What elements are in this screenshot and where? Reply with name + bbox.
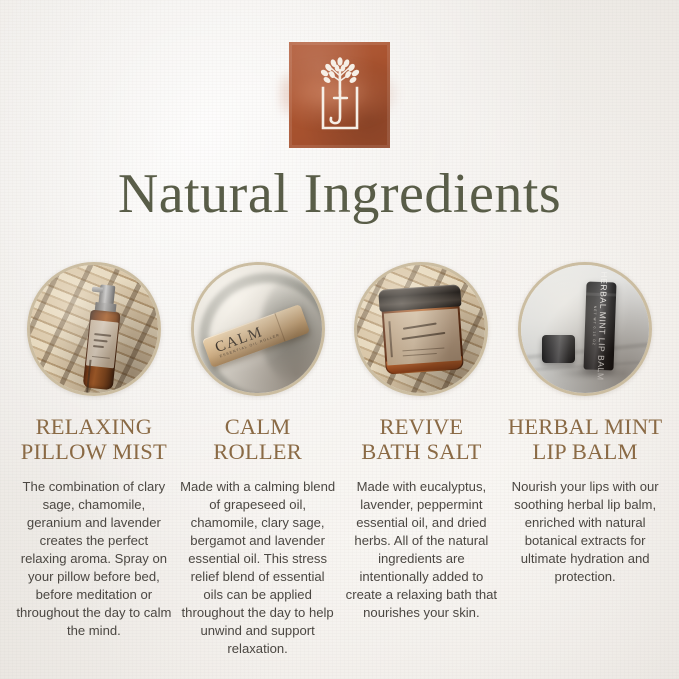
scene-lighting <box>194 265 322 393</box>
scene-wicker-bath-salt-jar <box>357 265 485 393</box>
scene-lighting <box>521 265 649 393</box>
scene-wicker-spray-bottle <box>30 265 158 393</box>
product-description: Nourish your lips with our soothing herb… <box>507 478 663 586</box>
product-card-herbal-mint-lip-balm: HERBAL MINT LIP BALM NET WT 0.15 OZ HERB… <box>503 262 667 658</box>
product-grid: RELAXING PILLOW MIST The combination of … <box>12 262 667 658</box>
product-description: Made with a calming blend of grapeseed o… <box>180 478 336 657</box>
product-title: CALM ROLLER <box>213 414 302 464</box>
product-card-revive-bath-salt: REVIVE BATH SALT Made with eucalyptus, l… <box>340 262 504 658</box>
product-card-calm-roller: CALM ESSENTIAL OIL ROLLER CALM ROLLER Ma… <box>176 262 340 658</box>
product-description: Made with eucalyptus, lavender, peppermi… <box>344 478 500 622</box>
scene-lighting <box>357 265 485 393</box>
product-image-herbal-mint-lip-balm: HERBAL MINT LIP BALM NET WT 0.15 OZ <box>518 262 652 396</box>
product-title: RELAXING PILLOW MIST <box>21 414 167 464</box>
product-title: HERBAL MINT LIP BALM <box>508 414 662 464</box>
scene-marble-lip-balm: HERBAL MINT LIP BALM NET WT 0.15 OZ <box>521 265 649 393</box>
product-card-relaxing-pillow-mist: RELAXING PILLOW MIST The combination of … <box>12 262 176 658</box>
product-title: REVIVE BATH SALT <box>361 414 481 464</box>
product-image-revive-bath-salt <box>354 262 488 396</box>
product-description: The combination of clary sage, chamomile… <box>16 478 172 639</box>
infographic-page: Natural Ingredients <box>0 0 679 679</box>
scene-stone-calm-roller: CALM ESSENTIAL OIL ROLLER <box>194 265 322 393</box>
logo-tile <box>289 42 390 148</box>
scene-lighting <box>30 265 158 393</box>
brand-logo <box>289 42 390 148</box>
product-image-relaxing-pillow-mist <box>27 262 161 396</box>
page-title: Natural Ingredients <box>0 165 679 224</box>
tree-in-frame-icon <box>307 57 373 133</box>
product-image-calm-roller: CALM ESSENTIAL OIL ROLLER <box>191 262 325 396</box>
